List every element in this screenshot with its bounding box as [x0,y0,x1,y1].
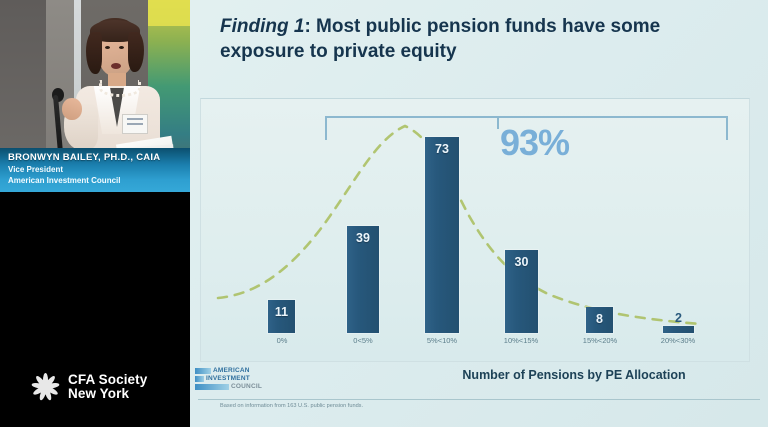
x-tick-label-0: 0% [256,336,308,345]
aic-logo-line-3: COUNCIL [231,383,262,390]
bar-2[interactable]: 73 [425,137,459,333]
finding-label: Finding 1 [220,16,304,37]
bar-4[interactable]: 8 [586,307,613,333]
video-feed-panel[interactable]: BRONWYN BAILEY, PH.D., CAIA Vice Preside… [0,0,190,427]
bar-value-3: 30 [505,255,538,269]
bar-5[interactable]: 2 [663,326,694,333]
bar-value-5: 2 [663,311,694,325]
page-title: Finding 1: Most public pension funds hav… [220,14,740,64]
presentation-slide: Finding 1: Most public pension funds hav… [190,0,768,427]
chart: 93% 11 0% 39 0<5% 73 5%<10% [200,98,748,360]
speaker-role: Vice President [8,165,63,174]
pinwheel-rosette-icon [30,372,60,402]
bar-0[interactable]: 11 [268,300,295,333]
speaker-name: BRONWYN BAILEY, PH.D., CAIA [8,152,160,163]
bar-value-1: 39 [347,231,379,245]
bar-group: 11 0% 39 0<5% 73 5%<10% 30 10%<15% [200,98,748,360]
bar-value-2: 73 [425,142,459,156]
screen: BRONWYN BAILEY, PH.D., CAIA Vice Preside… [0,0,768,427]
x-tick-label-4: 15%<20% [574,336,626,345]
aic-logo-line-2: INVESTMENT [206,375,250,382]
cfa-society-new-york-logo: CFA Society New York [30,372,147,402]
x-tick-label-2: 5%<10% [416,336,468,345]
x-tick-label-1: 0<5% [337,336,389,345]
bar-3[interactable]: 30 [505,250,538,333]
speaker-organization: American Investment Council [8,176,120,185]
bar-value-0: 11 [268,305,295,319]
x-tick-label-5: 20%<30% [652,336,704,345]
x-tick-label-3: 10%<15% [495,336,547,345]
name-badge-icon [122,114,148,134]
x-axis-title: Number of Pensions by PE Allocation [380,368,768,382]
footer-divider [198,399,760,400]
aic-logo-line-1: AMERICAN [213,367,250,374]
bar-value-4: 8 [586,312,613,326]
speaker-lower-third-banner: BRONWYN BAILEY, PH.D., CAIA Vice Preside… [0,148,190,192]
cfa-logo-line-2: New York [68,387,147,401]
source-note: Based on information from 163 U.S. publi… [220,403,363,409]
bar-1[interactable]: 39 [347,226,379,333]
cfa-logo-line-1: CFA Society [68,373,147,387]
american-investment-council-logo-icon: AMERICAN INVESTMENT COUNCIL [195,367,279,391]
